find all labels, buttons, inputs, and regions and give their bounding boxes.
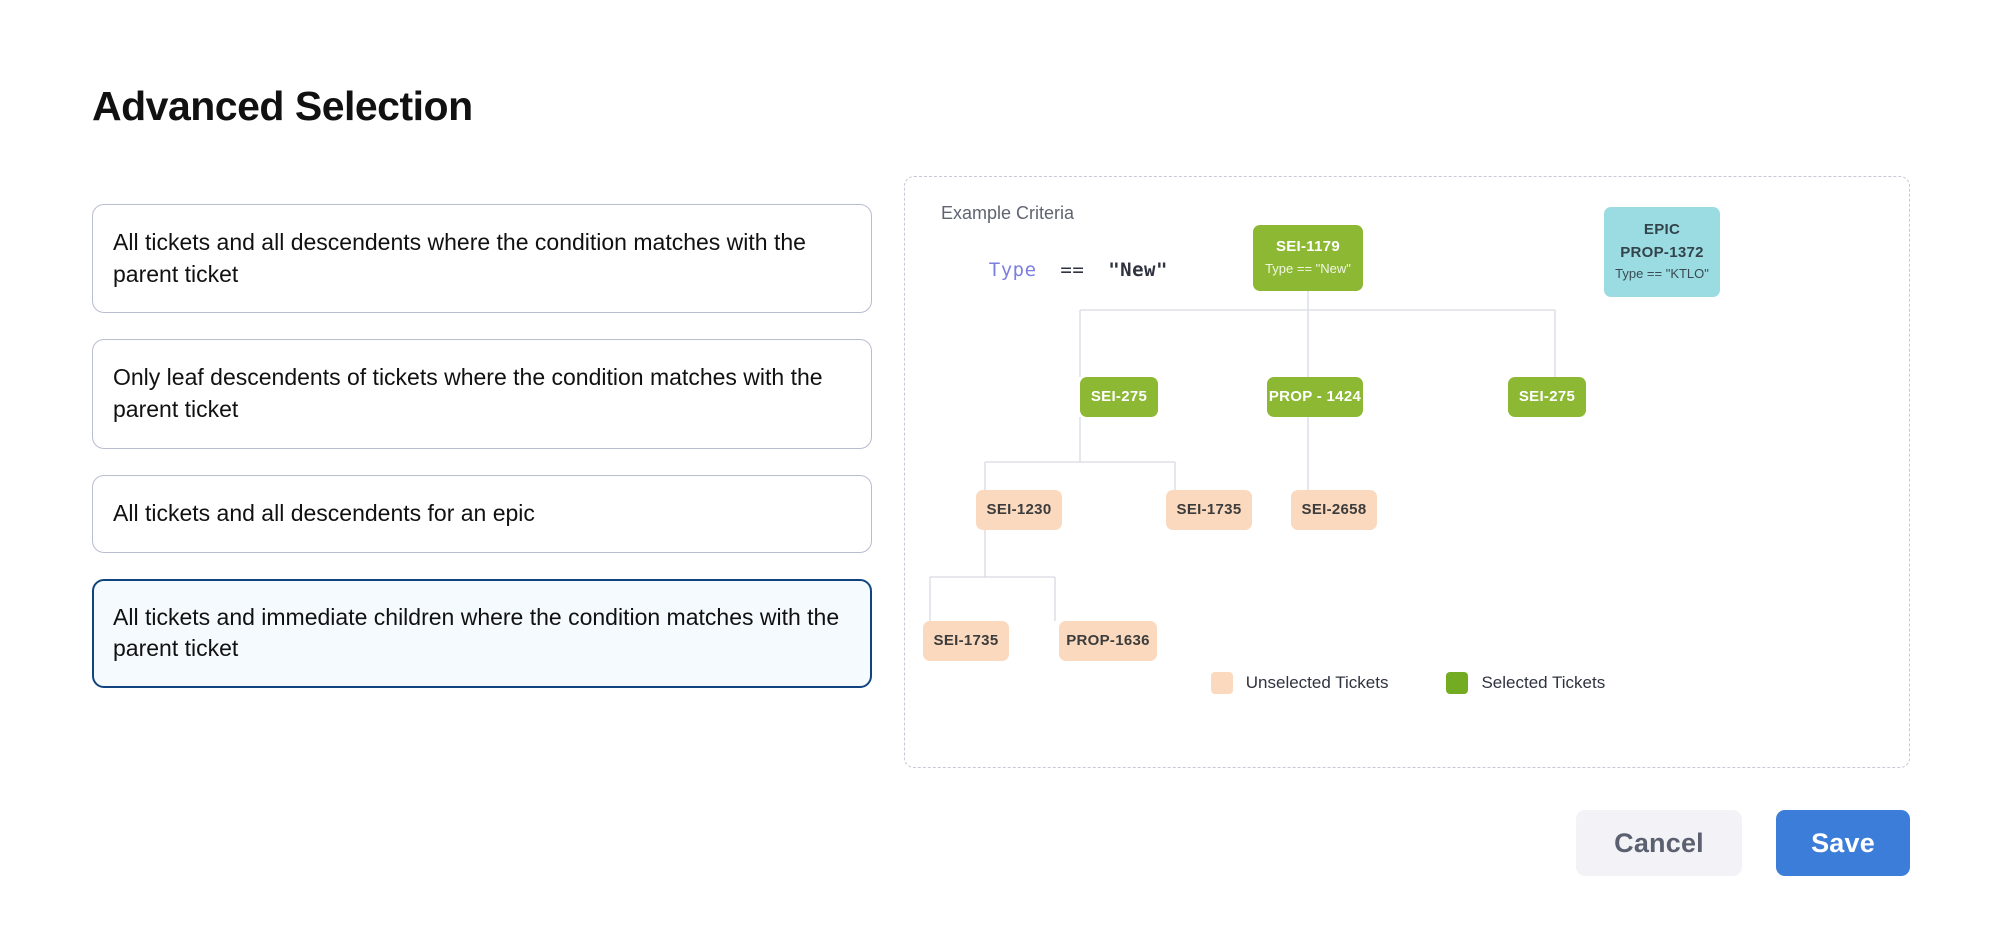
ticket-node-title: PROP-1636 <box>1066 630 1150 653</box>
ticket-node-root[interactable]: SEI-1179Type == "New" <box>1253 225 1363 291</box>
selection-option-card-3[interactable]: All tickets and all descendents for an e… <box>92 475 872 553</box>
legend-item-unselected: Unselected Tickets <box>1211 672 1389 694</box>
ticket-node-r4b[interactable]: PROP-1636 <box>1059 621 1157 661</box>
selection-option-card-2[interactable]: Only leaf descendents of tickets where t… <box>92 339 872 448</box>
ticket-node-title: SEI-275 <box>1519 386 1575 409</box>
ticket-node-epic[interactable]: EPICPROP-1372Type == "KTLO" <box>1604 207 1720 297</box>
ticket-node-r3a[interactable]: SEI-1230 <box>976 490 1062 530</box>
selection-option-label: All tickets and all descendents where th… <box>113 229 806 287</box>
legend-label: Selected Tickets <box>1481 673 1605 693</box>
ticket-node-r2a[interactable]: SEI-275 <box>1080 377 1158 417</box>
ticket-node-r2b[interactable]: PROP - 1424 <box>1267 377 1363 417</box>
legend-swatch-selected-icon <box>1446 672 1468 694</box>
ticket-node-condition: Type == "KTLO" <box>1615 264 1709 285</box>
selection-option-label: All tickets and all descendents for an e… <box>113 500 535 526</box>
selection-option-label: All tickets and immediate children where… <box>113 604 839 662</box>
ticket-node-condition: Type == "New" <box>1265 259 1351 280</box>
ticket-node-title: PROP - 1424 <box>1269 386 1361 409</box>
ticket-node-title: SEI-1230 <box>987 499 1052 522</box>
legend-swatch-unselected-icon <box>1211 672 1233 694</box>
ticket-node-r4a[interactable]: SEI-1735 <box>923 621 1009 661</box>
selection-option-card-1[interactable]: All tickets and all descendents where th… <box>92 204 872 313</box>
ticket-node-title: SEI-1179 <box>1276 236 1340 259</box>
save-button[interactable]: Save <box>1776 810 1910 876</box>
ticket-node-title: EPIC <box>1644 219 1680 242</box>
example-diagram-panel: Example Criteria Type == "New" <box>904 176 1910 768</box>
ticket-node-title: SEI-2658 <box>1302 499 1367 522</box>
ticket-node-r3b[interactable]: SEI-1735 <box>1166 490 1252 530</box>
ticket-node-r2c[interactable]: SEI-275 <box>1508 377 1586 417</box>
selection-option-label: Only leaf descendents of tickets where t… <box>113 364 823 422</box>
ticket-node-title: SEI-1735 <box>934 630 999 653</box>
ticket-node-r3c[interactable]: SEI-2658 <box>1291 490 1377 530</box>
selection-option-card-4[interactable]: All tickets and immediate children where… <box>92 579 872 688</box>
diagram-legend: Unselected TicketsSelected Tickets <box>905 672 1911 694</box>
cancel-button[interactable]: Cancel <box>1576 810 1742 876</box>
dialog-footer: Cancel Save <box>0 810 1910 876</box>
page-title: Advanced Selection <box>92 83 473 130</box>
legend-item-selected: Selected Tickets <box>1446 672 1605 694</box>
legend-label: Unselected Tickets <box>1246 673 1389 693</box>
selection-options-list: All tickets and all descendents where th… <box>92 204 872 714</box>
ticket-node-title: SEI-275 <box>1091 386 1147 409</box>
ticket-node-title: SEI-1735 <box>1177 499 1242 522</box>
ticket-node-key: PROP-1372 <box>1620 242 1704 265</box>
